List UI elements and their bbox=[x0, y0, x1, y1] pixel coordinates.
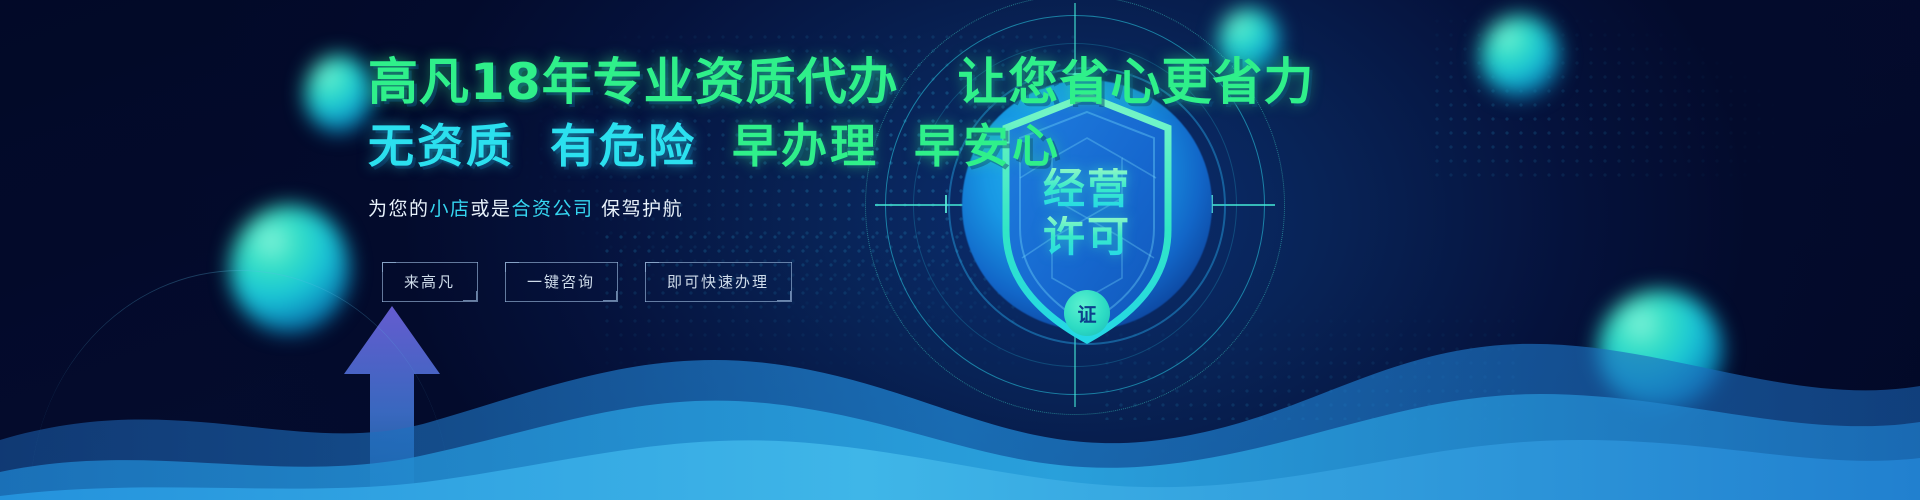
headline: 高凡18年专业资质代办 让您省心更省力 bbox=[368, 55, 1188, 109]
tagline-highlight-2: 合资公司 bbox=[512, 198, 594, 220]
glow-orb bbox=[1480, 15, 1560, 97]
tag-chip-label: 来高凡 bbox=[404, 273, 455, 291]
subhead-seg-3: 早办理 bbox=[732, 119, 879, 173]
shield-text-line2: 许可 bbox=[998, 216, 1176, 258]
tag-chip-label: 一键咨询 bbox=[527, 273, 595, 291]
chip-corner-icon bbox=[382, 262, 396, 272]
wave-graphic bbox=[0, 290, 1920, 500]
tagline-pre: 为您的 bbox=[368, 198, 430, 220]
tagline-highlight-1: 小店 bbox=[430, 198, 471, 220]
headline-part2: 让您省心更省力 bbox=[957, 53, 1314, 111]
copy-block: 高凡18年专业资质代办 让您省心更省力 无资质 有危险 早办理 早安心 为您的小… bbox=[368, 55, 1188, 221]
subhead-seg-2: 有危险 bbox=[550, 119, 697, 173]
tagline: 为您的小店或是合资公司 保驾护航 bbox=[368, 194, 1188, 221]
subhead-seg-1: 无资质 bbox=[368, 119, 515, 173]
chip-corner-icon bbox=[505, 262, 519, 272]
tagline-mid: 或是 bbox=[471, 198, 512, 220]
chip-corner-icon bbox=[645, 262, 659, 272]
tag-chip-label: 即可快速办理 bbox=[667, 273, 769, 291]
halftone-texture bbox=[1430, 0, 1790, 180]
subhead-seg-4: 早安心 bbox=[914, 119, 1061, 173]
tagline-post: 保驾护航 bbox=[594, 198, 684, 220]
subheadline: 无资质 有危险 早办理 早安心 bbox=[368, 121, 1188, 172]
headline-part1: 高凡18年专业资质代办 bbox=[368, 53, 899, 111]
glow-orb bbox=[305, 55, 373, 133]
promo-banner: 经营 许可 证 高凡18年专业资质代办 让您省心更省力 无资质 有危险 早办理 … bbox=[0, 0, 1920, 500]
